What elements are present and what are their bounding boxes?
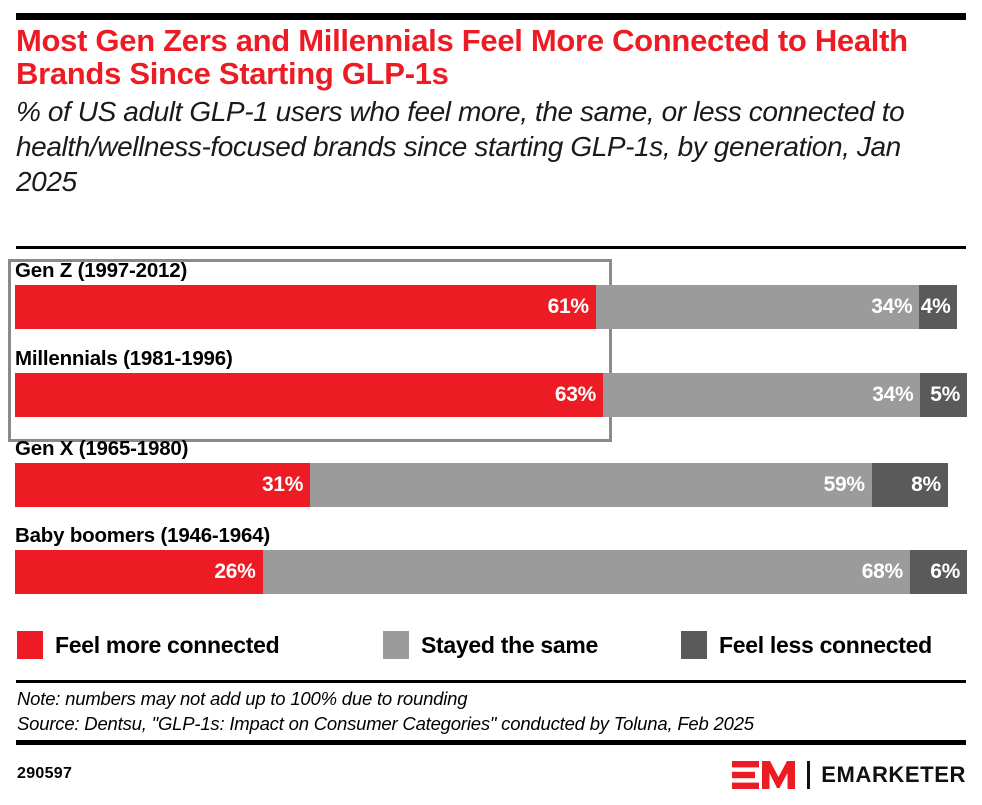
bar-segment-less: 6% [910,550,967,594]
chart-legend: Feel more connected Stayed the same Feel… [17,628,967,662]
subtitle-divider [16,246,966,249]
bar-value-label: 6% [930,560,967,584]
stacked-bar: 26%68%6% [15,550,967,594]
bar-group: Gen Z (1997-2012)61%34%4% [15,259,967,329]
bar-group: Millennials (1981-1996)63%34%5% [15,347,967,417]
legend-swatch-icon [17,631,43,659]
chart-title: Most Gen Zers and Millennials Feel More … [16,24,968,90]
bar-segment-more: 31% [15,463,310,507]
notes-divider-top [16,680,966,683]
legend-label: Feel more connected [55,632,279,659]
bar-segment-more: 26% [15,550,263,594]
note-text: Note: numbers may not add up to 100% due… [17,686,969,711]
bar-value-label: 61% [548,295,596,319]
chart-plot-area: Gen Z (1997-2012)61%34%4%Millennials (19… [0,250,982,615]
bar-segment-less: 4% [919,285,957,329]
bar-value-label: 34% [871,295,919,319]
source-text: Source: Dentsu, "GLP-1s: Impact on Consu… [17,711,969,736]
bar-group-label: Gen X (1965-1980) [15,437,967,463]
bar-group-label: Gen Z (1997-2012) [15,259,967,285]
bar-value-label: 34% [872,383,920,407]
legend-label: Feel less connected [719,632,932,659]
bar-segment-less: 8% [872,463,948,507]
em-monogram-icon [732,760,798,790]
bar-group: Baby boomers (1946-1964)26%68%6% [15,524,967,594]
bar-segment-more: 63% [15,373,603,417]
bar-value-label: 59% [824,473,872,497]
bar-group-label: Millennials (1981-1996) [15,347,967,373]
bar-segment-same: 34% [596,285,920,329]
bar-value-label: 68% [862,560,910,584]
bar-value-label: 63% [555,383,603,407]
bar-segment-same: 59% [310,463,872,507]
legend-swatch-icon [681,631,707,659]
chart-id: 290597 [17,765,72,783]
legend-label: Stayed the same [421,632,598,659]
stacked-bar: 61%34%4% [15,285,967,329]
chart-subtitle: % of US adult GLP-1 users who feel more,… [16,94,968,199]
bar-group: Gen X (1965-1980)31%59%8% [15,437,967,507]
emarketer-logo: EMARKETER [732,759,966,791]
logo-divider [807,761,810,789]
legend-item-same: Stayed the same [383,628,598,662]
notes-block: Note: numbers may not add up to 100% due… [17,686,969,736]
bar-value-label: 8% [911,473,948,497]
bar-segment-same: 34% [603,373,920,417]
bar-value-label: 5% [930,383,967,407]
title-block: Most Gen Zers and Millennials Feel More … [16,24,968,199]
legend-item-less: Feel less connected [681,628,932,662]
chart-page: Most Gen Zers and Millennials Feel More … [0,0,982,805]
legend-item-more: Feel more connected [17,628,279,662]
brand-wordmark: EMARKETER [821,762,966,788]
bar-group-label: Baby boomers (1946-1964) [15,524,967,550]
bar-value-label: 26% [214,560,262,584]
top-divider [16,13,966,20]
bar-segment-more: 61% [15,285,596,329]
stacked-bar: 63%34%5% [15,373,967,417]
footer-divider [16,740,966,745]
legend-swatch-icon [383,631,409,659]
bar-value-label: 4% [921,295,958,319]
bar-segment-same: 68% [263,550,910,594]
stacked-bar: 31%59%8% [15,463,967,507]
bar-value-label: 31% [262,473,310,497]
bar-segment-less: 5% [920,373,967,417]
